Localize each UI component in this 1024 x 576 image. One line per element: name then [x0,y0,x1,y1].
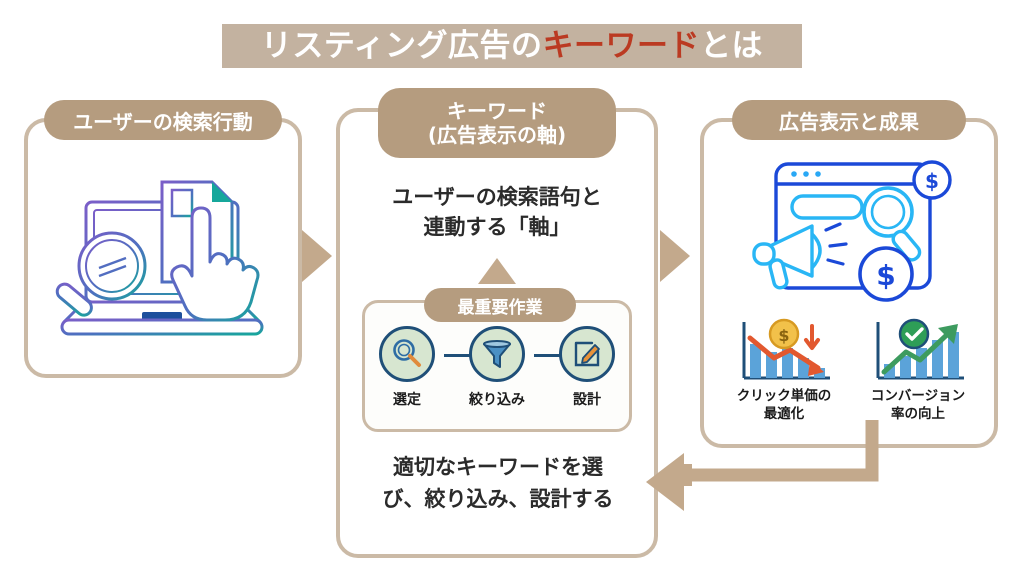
card-header-label: ユーザーの検索行動 [73,106,253,135]
kpi-label: コンバージョン 率の向上 [871,388,965,423]
magnifier-icon [379,326,435,382]
step-label: 設計 [573,389,601,409]
svg-text:$: $ [778,326,789,345]
step-design: 設計 [550,326,624,409]
card-header-label: 広告表示と成果 [779,106,919,135]
svg-text:$: $ [925,169,939,193]
rising-bar-chart-check-icon [868,318,968,384]
card-header-label-line2: (広告表示の軸) [428,123,566,147]
browser-megaphone-magnifier-dollar-icon: $ $ [742,158,978,313]
flow-arrow-center-to-right-icon [660,230,690,282]
pencil-square-icon [559,326,615,382]
kpi-conversion-rate: コンバージョン 率の向上 [860,318,976,423]
kpi-label-line1: コンバージョン [871,388,965,406]
page-title: リスティング広告のキーワードとは [261,31,763,62]
flow-arrow-left-to-center-icon [302,230,332,282]
step-selection: 選定 [370,326,444,409]
kpi-list: $ クリック単価の 最適化 コンバージョン [726,318,976,423]
lead-caret-icon [478,258,516,284]
infographic-canvas: リスティング広告のキーワードとは ユーザーの検索行動 キーワード (広告表示の軸… [0,0,1024,576]
declining-bar-chart-coin-icon: $ [734,318,834,384]
page-title-accent: キーワード [543,28,701,64]
page-title-prefix: リスティング広告の [261,28,543,64]
card-header-keyword: キーワード (広告表示の軸) [378,88,616,158]
page-title-band: リスティング広告のキーワードとは [222,24,802,68]
funnel-icon [469,326,525,382]
kpi-label: クリック単価の 最適化 [737,388,832,423]
keyword-summary-text: 適切なキーワードを選 び、絞り込み、設計する [348,452,648,515]
card-header-ad-display-results: 広告表示と成果 [732,100,966,140]
keyword-step-list: 選定 絞り込み 設計 [370,326,624,426]
keyword-lead-line2: 連動する「軸」 [352,212,642,242]
keyword-summary-line1: 適切なキーワードを選 [348,452,648,484]
step-label: 選定 [393,389,421,409]
keyword-lead-line1: ユーザーの検索語句と [352,182,642,212]
kpi-label-line2: 率の向上 [871,406,965,424]
kpi-label-line1: クリック単価の [737,388,832,406]
keyword-lead-text: ユーザーの検索語句と 連動する「軸」 [352,182,642,243]
keyword-summary-line2: び、絞り込み、設計する [348,484,648,516]
svg-text:$: $ [876,259,895,292]
kpi-label-line2: 最適化 [737,406,832,424]
step-label: 絞り込み [469,389,525,409]
most-important-task-pill: 最重要作業 [424,288,576,322]
laptop-document-magnifier-hand-icon [44,160,284,345]
card-header-user-search-behavior: ユーザーの検索行動 [44,100,282,140]
step-narrowing: 絞り込み [460,326,534,409]
kpi-cpc-optimization: $ クリック単価の 最適化 [726,318,842,423]
card-header-label-line1: キーワード [447,99,547,123]
page-title-suffix: とは [700,28,763,64]
feedback-loop-arrow-icon [636,420,882,540]
most-important-task-label: 最重要作業 [458,293,543,318]
